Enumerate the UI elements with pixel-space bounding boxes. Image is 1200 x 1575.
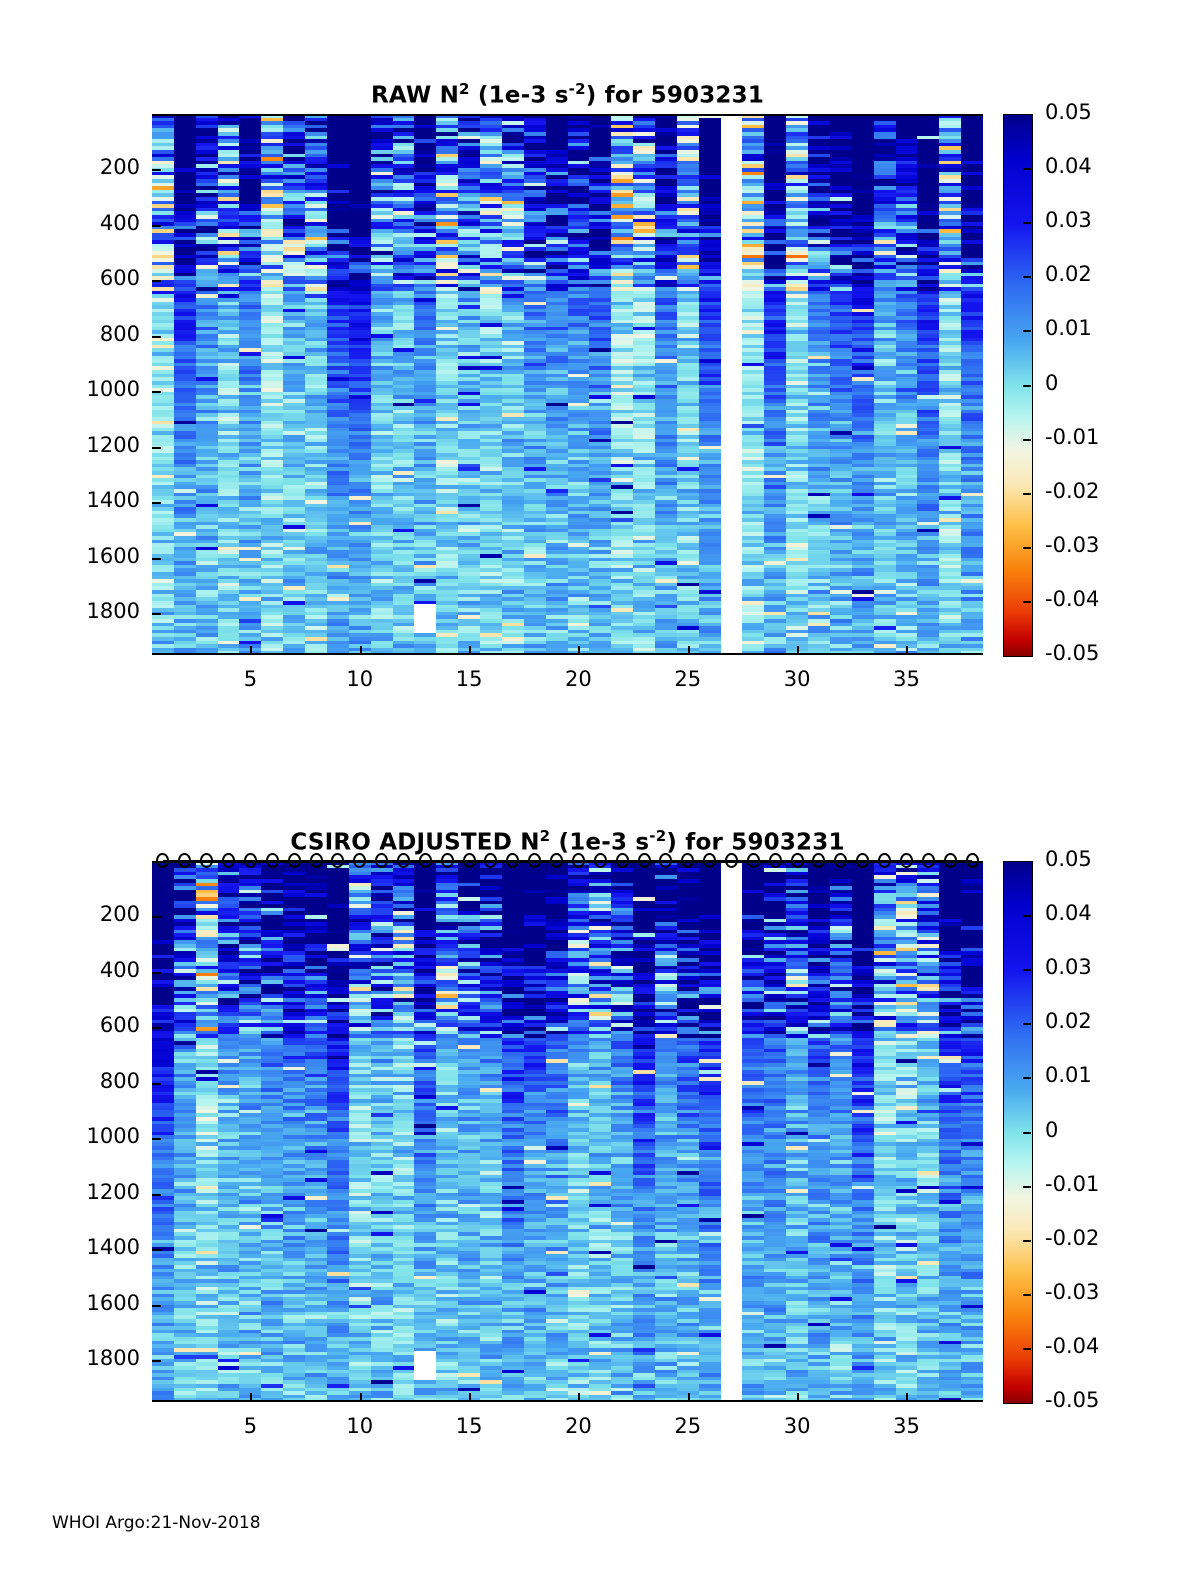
cycle-column — [371, 114, 393, 655]
cycle-column — [830, 114, 852, 655]
cycle-column — [742, 114, 764, 655]
plot-area-raw[interactable] — [152, 114, 983, 655]
cycle-column — [874, 114, 896, 655]
cycle-column — [896, 114, 918, 655]
cycle-column — [218, 114, 240, 655]
plot-title-raw: RAW N2 (1e-3 s-2) for 5903231 — [152, 80, 983, 109]
cycle-column — [305, 114, 327, 655]
cycle-column — [174, 114, 196, 655]
title-float-id: ) for 5903231 — [586, 83, 764, 109]
cycle-column — [568, 114, 590, 655]
cycle-column — [524, 114, 546, 655]
cycle-column — [283, 114, 305, 655]
title-exponent-2: 2 — [459, 80, 470, 98]
cycle-column — [677, 114, 699, 655]
cycle-column — [655, 114, 677, 655]
cycle-column — [152, 114, 174, 655]
title-exponent-minus2: -2 — [569, 80, 586, 98]
cycle-column — [239, 114, 261, 655]
cycle-column — [633, 114, 655, 655]
cycle-column — [808, 114, 830, 655]
cycle-column — [502, 114, 524, 655]
cycle-column — [349, 114, 371, 655]
cycle-column — [764, 114, 786, 655]
title-main: RAW N — [371, 83, 459, 109]
cycle-column — [327, 114, 349, 655]
cycle-column — [786, 114, 808, 655]
cycle-column — [589, 114, 611, 655]
cycle-column — [196, 114, 218, 655]
heatmap-raw — [152, 114, 983, 655]
cycle-column — [414, 114, 436, 655]
cycle-column — [721, 114, 743, 655]
cycle-column — [611, 114, 633, 655]
cycle-column — [393, 114, 415, 655]
cycle-column — [546, 114, 568, 655]
missing-data-patch — [414, 604, 436, 634]
cycle-column — [480, 114, 502, 655]
title-units-open: (1e-3 s — [470, 83, 569, 109]
cycle-column — [852, 114, 874, 655]
cycle-column — [436, 114, 458, 655]
cycle-column — [699, 114, 721, 655]
cycle-column — [458, 114, 480, 655]
cycle-column — [261, 114, 283, 655]
